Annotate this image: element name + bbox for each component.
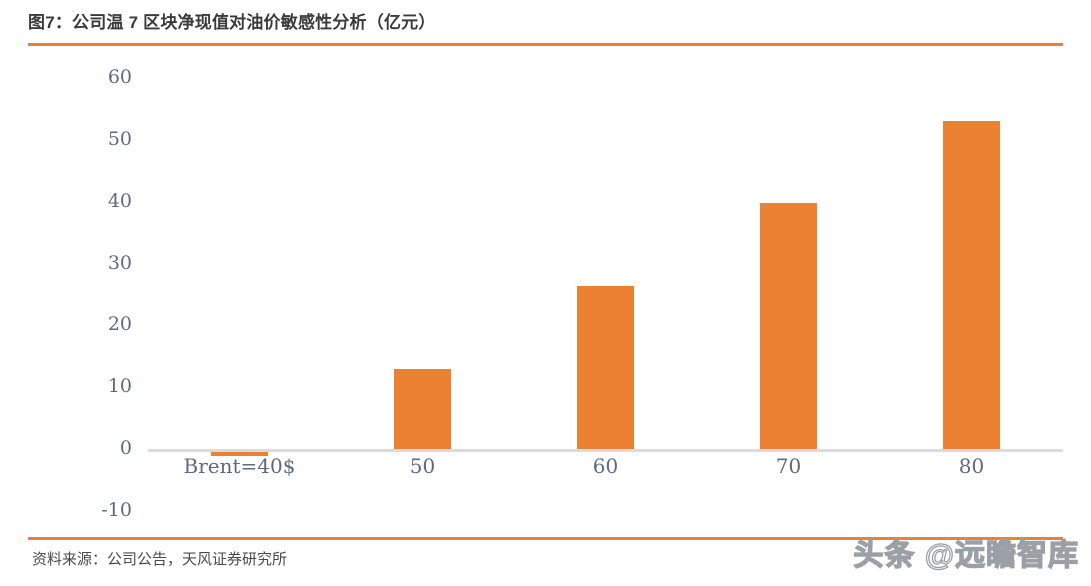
- bar: [577, 286, 634, 449]
- x-tick-label: 60: [593, 454, 618, 478]
- x-tick-label: Brent=40$: [184, 454, 296, 478]
- y-tick-label: 40: [62, 192, 132, 211]
- source-note: 资料来源：公司公告，天风证券研究所: [32, 548, 287, 569]
- bar: [943, 121, 1000, 449]
- x-tick-label: 70: [776, 454, 801, 478]
- bar: [394, 369, 451, 449]
- y-tick-label: 50: [62, 130, 132, 149]
- figure-header: 图7：公司温 7 区块净现值对油价敏感性分析（亿元）: [0, 0, 1091, 46]
- x-tick-label: 50: [410, 454, 435, 478]
- y-tick-label: 10: [62, 377, 132, 396]
- x-tick-label: 80: [959, 454, 984, 478]
- y-tick-label: -10: [62, 501, 132, 520]
- page-title: 图7：公司温 7 区块净现值对油价敏感性分析（亿元）: [28, 8, 436, 33]
- bar: [760, 203, 817, 449]
- watermark: 头条 @远瞻智库: [853, 530, 1079, 574]
- y-tick-label: 60: [62, 68, 132, 87]
- bar-chart: 6050403020100-10 Brent=40$50607080: [0, 46, 1091, 531]
- y-tick-label: 30: [62, 254, 132, 273]
- y-axis-tick-labels: 6050403020100-10: [62, 46, 132, 531]
- y-tick-label: 0: [62, 439, 132, 458]
- x-axis-tick-labels: Brent=40$50607080: [148, 454, 1063, 494]
- y-tick-label: 20: [62, 315, 132, 334]
